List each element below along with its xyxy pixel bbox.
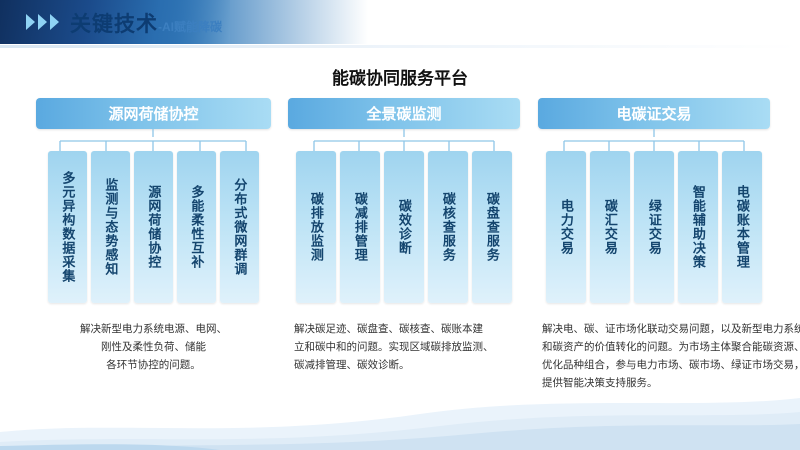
header-subtitle: -AI赋能降碳: [158, 20, 222, 34]
card-item[interactable]: 多能柔性互补: [177, 151, 216, 303]
group-header-2[interactable]: 全景碳监测: [288, 98, 520, 129]
card-list-3: 电力交易 碳汇交易 绿证交易 智能辅助决策 电碳账本管理: [538, 151, 770, 303]
double-chevron-icon: [38, 14, 47, 30]
description-line: 立和碳中和的问题。实现区域碳排放监测、: [294, 339, 520, 357]
description-line: 解决电、碳、证市场化联动交易问题，以及新型电力系统: [542, 321, 770, 339]
description-line: 解决新型电力系统电源、电网、: [36, 321, 271, 339]
description-1: 解决新型电力系统电源、电网、 刚性及柔性负荷、储能 各环节协控的问题。: [36, 321, 271, 375]
group-header-3[interactable]: 电碳证交易: [538, 98, 770, 129]
page-title: 能碳协同服务平台: [0, 64, 800, 89]
description-line: 解决碳足迹、碳盘查、碳核查、碳账本建: [294, 321, 520, 339]
card-item[interactable]: 分布式微网群调: [220, 151, 259, 303]
double-chevron-icon: [50, 14, 59, 30]
card-item[interactable]: 多元异构数据采集: [48, 151, 87, 303]
double-chevron-icon: [26, 14, 35, 30]
card-item[interactable]: 电碳账本管理: [722, 151, 762, 303]
group-column-3: 电碳证交易 电力交易 碳汇交易 绿证交易 智能辅助决策 电碳账本管理 解决电、碳…: [538, 98, 770, 392]
connector-lines-1: [36, 129, 271, 151]
card-item[interactable]: 碳核查服务: [428, 151, 468, 303]
card-item[interactable]: 碳汇交易: [590, 151, 630, 303]
header-title: 关键技术-AI赋能降碳: [70, 8, 222, 38]
description-line: 碳减排管理、碳效诊断。: [294, 357, 520, 375]
description-line: 和碳资产的价值转化的问题。为市场主体聚合能碳资源、: [542, 339, 770, 357]
page-header: 关键技术-AI赋能降碳: [0, 0, 800, 48]
description-line: 提供智能决策支持服务。: [542, 375, 770, 393]
description-line: 刚性及柔性负荷、储能: [36, 339, 271, 357]
card-item[interactable]: 电力交易: [546, 151, 586, 303]
group-header-1[interactable]: 源网荷储协控: [36, 98, 271, 129]
card-item[interactable]: 源网荷储协控: [134, 151, 173, 303]
description-line: 各环节协控的问题。: [36, 357, 271, 375]
group-column-1: 源网荷储协控 多元异构数据采集 监测与态势感知 源网荷储协控 多能柔性互补 分布…: [36, 98, 271, 375]
header-underline: [0, 45, 800, 48]
description-2: 解决碳足迹、碳盘查、碳核查、碳账本建 立和碳中和的问题。实现区域碳排放监测、 碳…: [288, 321, 520, 375]
card-item[interactable]: 绿证交易: [634, 151, 674, 303]
connector-lines-2: [288, 129, 520, 151]
card-item[interactable]: 智能辅助决策: [678, 151, 718, 303]
card-item[interactable]: 碳盘查服务: [472, 151, 512, 303]
connector-lines-3: [538, 129, 770, 151]
card-item[interactable]: 碳效诊断: [384, 151, 424, 303]
card-list-2: 碳排放监测 碳减排管理 碳效诊断 碳核查服务 碳盘查服务: [288, 151, 520, 303]
card-item[interactable]: 监测与态势感知: [91, 151, 130, 303]
card-list-1: 多元异构数据采集 监测与态势感知 源网荷储协控 多能柔性互补 分布式微网群调: [36, 151, 271, 303]
header-title-main: 关键技术: [70, 13, 158, 36]
card-item[interactable]: 碳排放监测: [296, 151, 336, 303]
group-column-2: 全景碳监测 碳排放监测 碳减排管理 碳效诊断 碳核查服务 碳盘查服务 解决碳足迹…: [288, 98, 520, 375]
description-3: 解决电、碳、证市场化联动交易问题，以及新型电力系统 和碳资产的价值转化的问题。为…: [538, 321, 770, 392]
description-line: 优化品种组合，参与电力市场、碳市场、绿证市场交易，: [542, 357, 770, 375]
card-item[interactable]: 碳减排管理: [340, 151, 380, 303]
